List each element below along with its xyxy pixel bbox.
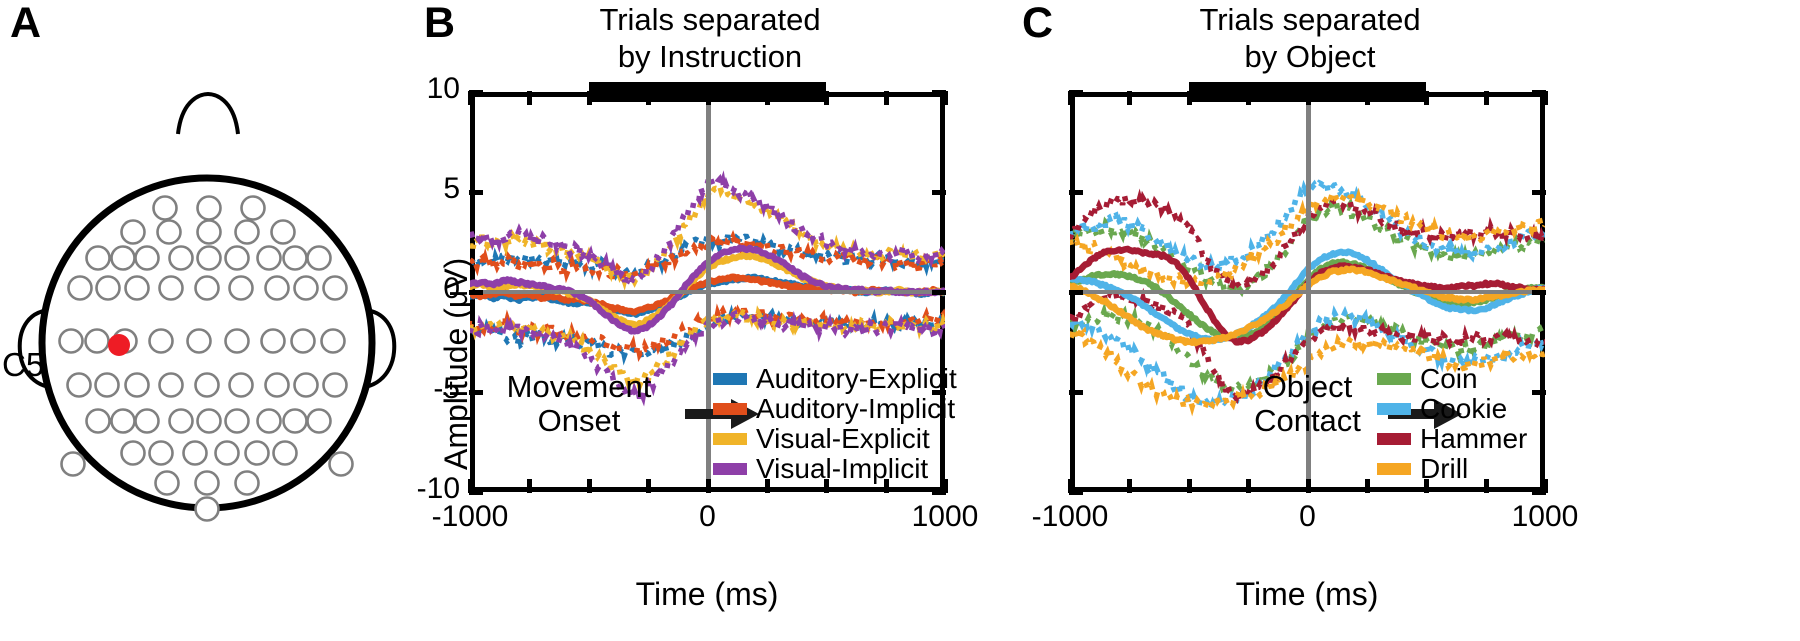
legend-item[interactable]: Auditory-Implicit	[713, 394, 957, 424]
x-tick-label: 0	[628, 500, 788, 534]
legend-swatch	[1377, 403, 1411, 415]
x-tickmark	[1424, 91, 1429, 105]
figure-root: A C5 B Trials separated by Instruction M…	[0, 0, 1800, 641]
y-tickmark	[1532, 290, 1546, 295]
panel-b-letter: B	[424, 2, 455, 45]
legend-label: Auditory-Explicit	[756, 365, 957, 393]
x-tickmark	[468, 479, 473, 493]
legend-item[interactable]: Visual-Explicit	[713, 424, 957, 454]
x-tickmark	[1306, 479, 1311, 493]
nose-outline	[178, 94, 238, 134]
panel-b-legend: Auditory-ExplicitAuditory-ImplicitVisual…	[713, 364, 957, 484]
y-tickmark	[1069, 190, 1083, 195]
x-tick-label: -1000	[390, 500, 550, 534]
legend-swatch	[1377, 463, 1411, 475]
x-tickmark	[706, 479, 711, 493]
electrode-site[interactable]	[62, 453, 85, 476]
x-tickmark	[1543, 91, 1548, 105]
x-tickmark	[1187, 479, 1192, 493]
panel-b-plot: Movement Onset Auditory-ExplicitAuditory…	[470, 92, 945, 492]
x-tickmark	[1246, 479, 1251, 493]
legend-swatch	[713, 403, 747, 415]
y-tick-label: 5	[370, 172, 460, 206]
legend-label: Drill	[1420, 455, 1468, 483]
panel-c-annotation: Object Contact	[1220, 370, 1395, 438]
x-tickmark	[1365, 479, 1370, 493]
panel-b-title: Trials separated by Instruction	[515, 2, 905, 75]
panel-c-annot-line1: Object	[1220, 370, 1395, 404]
panel-b-annotation: Movement Onset	[464, 370, 694, 438]
legend-item[interactable]: Visual-Implicit	[713, 454, 957, 484]
panel-b-title-line2: by Instruction	[515, 39, 905, 76]
x-tickmark	[1068, 91, 1073, 105]
y-tick-label: 10	[370, 72, 460, 106]
y-tick-label: -5	[370, 372, 460, 406]
x-tickmark	[1127, 479, 1132, 493]
legend-label: Visual-Implicit	[756, 455, 928, 483]
panel-b-annot-line1: Movement	[464, 370, 694, 404]
highlighted-electrode-c5[interactable]	[108, 334, 130, 356]
x-tickmark	[1246, 91, 1251, 105]
panel-c-annot-line2: Contact	[1220, 404, 1395, 438]
y-tick-label: 0	[370, 272, 460, 306]
x-tickmark	[468, 91, 473, 105]
legend-item[interactable]: Hammer	[1377, 424, 1527, 454]
x-tickmark	[706, 91, 711, 105]
x-tick-label: 0	[1228, 500, 1388, 534]
x-tickmark	[1484, 91, 1489, 105]
panel-c-title: Trials separated by Object	[1115, 2, 1505, 75]
y-tickmark	[1532, 390, 1546, 395]
panel-b-title-line1: Trials separated	[515, 2, 905, 39]
y-tickmark	[1069, 390, 1083, 395]
x-tickmark	[587, 479, 592, 493]
panel-b-x-axis-label: Time (ms)	[627, 576, 787, 613]
legend-label: Visual-Explicit	[756, 425, 930, 453]
panel-c-letter: C	[1022, 2, 1053, 45]
y-tickmark	[469, 190, 483, 195]
x-tickmark	[527, 479, 532, 493]
legend-swatch	[1377, 373, 1411, 385]
legend-item[interactable]: Auditory-Explicit	[713, 364, 957, 394]
x-tickmark	[824, 91, 829, 105]
legend-item[interactable]: Cookie	[1377, 394, 1527, 424]
electrode-site[interactable]	[330, 453, 353, 476]
legend-item[interactable]: Coin	[1377, 364, 1527, 394]
x-tickmark	[943, 91, 948, 105]
legend-swatch	[1377, 433, 1411, 445]
x-tickmark	[1068, 479, 1073, 493]
panel-c-x-axis-label: Time (ms)	[1227, 576, 1387, 613]
x-tickmark	[1543, 479, 1548, 493]
scalp-map-svg	[0, 0, 410, 641]
legend-item[interactable]: Drill	[1377, 454, 1527, 484]
y-tickmark	[1069, 290, 1083, 295]
panel-c-legend: CoinCookieHammerDrill	[1377, 364, 1527, 484]
x-tickmark	[646, 479, 651, 493]
legend-label: Hammer	[1420, 425, 1527, 453]
x-tickmark	[1365, 91, 1370, 105]
panel-c-title-line2: by Object	[1115, 39, 1505, 76]
x-tickmark	[646, 91, 651, 105]
y-tickmark	[1532, 190, 1546, 195]
y-tickmark	[932, 290, 946, 295]
x-tick-label: 1000	[1465, 500, 1625, 534]
x-tickmark	[587, 91, 592, 105]
panel-c-plot: Object Contact CoinCookieHammerDrill	[1070, 92, 1545, 492]
legend-label: Coin	[1420, 365, 1478, 393]
panel-c-title-line1: Trials separated	[1115, 2, 1505, 39]
y-tickmark	[932, 190, 946, 195]
panel-b-zero-amplitude-line	[470, 290, 945, 294]
legend-swatch	[713, 463, 747, 475]
legend-label: Auditory-Implicit	[756, 395, 955, 423]
panel-b-annot-line2: Onset	[464, 404, 694, 438]
x-tickmark	[1127, 91, 1132, 105]
x-tickmark	[527, 91, 532, 105]
panel-c-zero-amplitude-line	[1070, 290, 1545, 294]
x-tickmark	[884, 91, 889, 105]
x-tickmark	[1187, 91, 1192, 105]
legend-swatch	[713, 373, 747, 385]
panel-a-scalp-map: A C5	[0, 0, 410, 641]
x-tickmark	[765, 91, 770, 105]
electrode-site[interactable]	[196, 498, 219, 521]
x-tickmark	[1306, 91, 1311, 105]
x-tick-label: -1000	[990, 500, 1150, 534]
legend-label: Cookie	[1420, 395, 1507, 423]
legend-swatch	[713, 433, 747, 445]
